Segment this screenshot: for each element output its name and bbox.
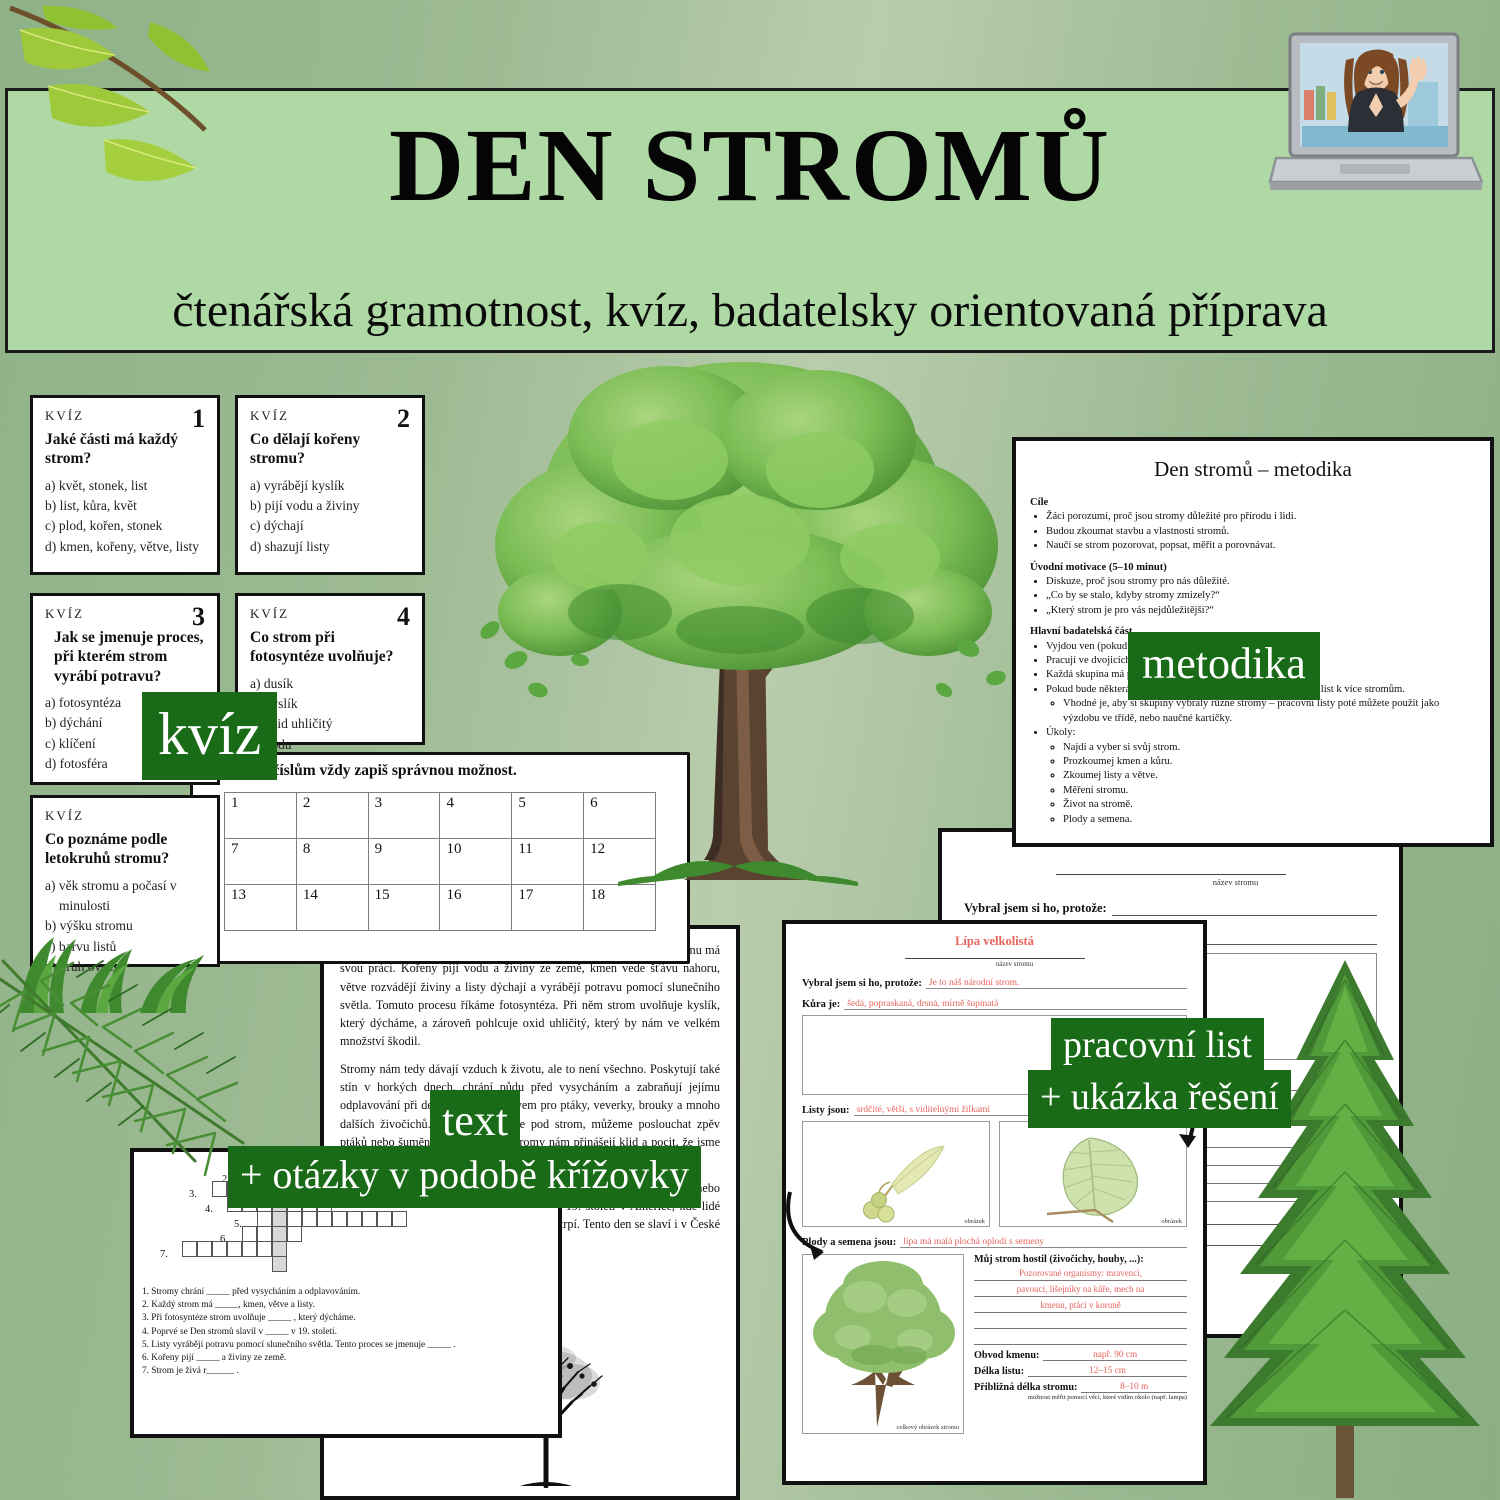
bark-answer[interactable]: šedá, popraskaná, drsná, mírně šupinatá — [844, 999, 1187, 1010]
quiz-card-label: KVÍZ — [45, 606, 205, 622]
grid-cell[interactable]: 10 — [440, 839, 512, 885]
circumference-label: Obvod kmenu: — [974, 1350, 1039, 1361]
quiz-question: Jak se jmenuje proces, při kterém strom … — [45, 628, 205, 686]
crossword-clue: 7. Strom je živá r______ . — [142, 1365, 550, 1378]
crossword-clues: 1. Stromy chrání _____ před vysycháním a… — [142, 1286, 550, 1378]
quiz-option[interactable]: c) plod, kořen, stonek — [45, 516, 205, 536]
list-item: Vhodné je, aby si skupiny vybraly různé … — [1063, 697, 1476, 726]
fruit-row: Plody a semena jsou: lípa má malá plochá… — [802, 1237, 1187, 1248]
tree-name-line — [905, 950, 1085, 959]
leaves-label: Listy jsou: — [802, 1105, 850, 1116]
crossword-cell[interactable] — [317, 1211, 332, 1227]
teacher-avatar-laptop-icon — [1268, 30, 1483, 250]
methodology-list: Žáci porozumí, proč jsou stromy důležité… — [1030, 510, 1476, 553]
image-caption: obrázek — [1161, 1218, 1182, 1225]
quiz-card-number: 2 — [397, 404, 410, 434]
list-item: Zkoumej listy a větve. — [1063, 769, 1476, 783]
crossword-cell[interactable] — [287, 1211, 302, 1227]
why-label: Vybral jsem si ho, protože: — [802, 978, 922, 989]
host-line[interactable]: pavouci, lišejníky na kůře, mech na — [974, 1281, 1187, 1297]
image-caption: obrázek — [964, 1218, 985, 1225]
quiz-option[interactable]: a) vyrábějí kyslík — [250, 476, 410, 496]
methodology-title: Den stromů – metodika — [1030, 457, 1476, 482]
crossword-cell[interactable] — [287, 1226, 302, 1242]
quiz-card-label: KVÍZ — [45, 808, 205, 824]
host-line[interactable]: Pozorované organismy: mravenci, — [974, 1265, 1187, 1281]
crossword-cell[interactable] — [257, 1241, 272, 1257]
tree-name-caption: název stromu — [842, 960, 1187, 968]
leaf-length-label: Délka listu: — [974, 1366, 1024, 1377]
page-subtitle: čtenářská gramotnost, kvíz, badatelsky o… — [8, 283, 1492, 338]
why-answer[interactable]: Je to náš národní strom. — [926, 978, 1187, 989]
tag-ukazka-reseni: + ukázka řešení — [1028, 1070, 1291, 1128]
quiz-question: Co strom při fotosyntéze uvolňuje? — [250, 628, 410, 667]
bark-label: Kůra je: — [802, 999, 840, 1010]
height-value[interactable]: 8–10 m — [1081, 1382, 1187, 1393]
fruit-answer[interactable]: lípa má malá plochá oplodí s semeny — [900, 1237, 1187, 1248]
crossword-cell[interactable] — [227, 1241, 242, 1257]
list-item: „Který strom je pro vás nejdůležitější?“ — [1046, 604, 1476, 618]
tree-name-caption: název stromu — [1094, 877, 1377, 887]
quiz-option[interactable]: d) shazují listy — [250, 537, 410, 557]
quiz-option[interactable]: b) list, kůra, květ — [45, 496, 205, 516]
quiz-card-1[interactable]: KVÍZ 1 Jaké části má každý strom? a) kvě… — [30, 395, 220, 575]
crossword-number: 4. — [205, 1204, 213, 1215]
bark-box-caption: obtisk kůry — [1335, 1048, 1371, 1057]
methodology-heading: Úvodní motivace (5–10 minut) — [1030, 561, 1476, 575]
quiz-option[interactable]: a) dusík — [250, 674, 410, 694]
methodology-heading: Cíle — [1030, 496, 1476, 510]
tag-pracovni-list: pracovní list — [1051, 1018, 1264, 1076]
list-item: „Co by se stalo, kdyby stromy zmizely?“ — [1046, 589, 1476, 603]
crossword-cell-highlight[interactable] — [272, 1211, 287, 1227]
list-item: Budou zkoumat stavbu a vlastnosti stromů… — [1046, 525, 1476, 539]
grid-cell[interactable]: 11 — [512, 839, 584, 885]
crossword-clue: 2. Každý strom má _____, kmen, větve a l… — [142, 1299, 550, 1312]
crossword-cell[interactable] — [302, 1211, 317, 1227]
grid-cell[interactable]: 16 — [440, 885, 512, 931]
host-line[interactable]: kmenu, ptáci v koruně — [974, 1297, 1187, 1313]
crossword-cell[interactable] — [242, 1226, 257, 1242]
crossword-cell[interactable] — [197, 1241, 212, 1257]
measurements-column: Můj strom hostil (živočichy, houby, ...)… — [974, 1254, 1187, 1434]
host-line[interactable] — [974, 1313, 1187, 1329]
list-item: Měření stromu. — [1063, 784, 1476, 798]
why-label: Vybral jsem si ho, protože: — [964, 901, 1107, 916]
bark-row: Kůra je: šedá, popraskaná, drsná, mírně … — [802, 999, 1187, 1010]
quiz-card-number: 4 — [397, 602, 410, 632]
list-item: Naučí se strom pozorovat, popsat, měřit … — [1046, 539, 1476, 553]
quiz-option[interactable]: a) květ, stonek, list — [45, 476, 205, 496]
quiz-card-number: 1 — [192, 404, 205, 434]
crossword-cell[interactable] — [392, 1211, 407, 1227]
tag-kviz: kvíz — [142, 692, 277, 780]
quiz-card-number: 3 — [192, 602, 205, 632]
crossword-clue: 6. Kořeny pijí _____ a živiny ze země. — [142, 1352, 550, 1365]
crossword-number: 3. — [189, 1189, 197, 1200]
quiz-options: a) věk stromu a počasí v minulosti b) vý… — [45, 876, 205, 977]
quiz-question: Co dělají kořeny stromu? — [250, 430, 410, 469]
grid-cell[interactable]: 6 — [584, 793, 656, 839]
crossword-cell[interactable] — [257, 1211, 272, 1227]
list-item: Najdi a vyber si svůj strom. — [1063, 741, 1476, 755]
tag-metodika: metodika — [1128, 632, 1320, 700]
bottom-row: celkový obrázek stromu Můj strom hostil … — [802, 1254, 1187, 1434]
list-item: Prozkoumej kmen a kůru. — [1063, 755, 1476, 769]
crossword-cell[interactable] — [362, 1211, 377, 1227]
quiz-card-stack: KVÍZ 1 Jaké části má každý strom? a) kvě… — [30, 395, 442, 975]
height-row: Přibližná délka stromu: 8–10 m — [974, 1382, 1187, 1393]
quiz-option[interactable]: b) výšku stromu — [45, 916, 205, 936]
quiz-option[interactable]: c) dýchají — [250, 516, 410, 536]
tree-name: Lípa velkolistá — [802, 934, 1187, 949]
quiz-options: a) květ, stonek, list b) list, kůra, kvě… — [45, 476, 205, 557]
host-line[interactable] — [974, 1329, 1187, 1345]
whole-tree-image-cell[interactable]: celkový obrázek stromu — [802, 1254, 964, 1434]
circumference-value[interactable]: např. 90 cm — [1043, 1350, 1187, 1361]
methodology-sublist: Vhodné je, aby si skupiny vybraly různé … — [1046, 697, 1476, 726]
list-item: Diskuze, proč jsou stromy pro nás důleži… — [1046, 575, 1476, 589]
crossword-number: 7. — [160, 1249, 168, 1260]
why-row: Vybral jsem si ho, protože: Je to náš ná… — [802, 978, 1187, 989]
tree-name-line[interactable] — [1056, 860, 1286, 875]
grid-cell[interactable]: 4 — [440, 793, 512, 839]
why-input[interactable] — [1112, 902, 1377, 916]
methodology-list: Diskuze, proč jsou stromy pro nás důleži… — [1030, 575, 1476, 618]
crossword-number: 5. — [234, 1219, 242, 1230]
grid-cell[interactable]: 5 — [512, 793, 584, 839]
quiz-question: Jaké části má každý strom? — [45, 430, 205, 469]
crossword-clue: 4. Poprvé se Den stromů slavil v _____ v… — [142, 1326, 550, 1339]
curved-arrow-left-icon — [782, 1180, 852, 1270]
grid-cell[interactable]: 12 — [584, 839, 656, 885]
leaf-length-value[interactable]: 12–15 cm — [1028, 1366, 1187, 1377]
crossword-clue: 3. Při fotosyntéze strom uvolňuje _____ … — [142, 1312, 550, 1325]
quiz-options: a) vyrábějí kyslík b) pijí vodu a živiny… — [250, 476, 410, 557]
crossword-cell[interactable] — [212, 1241, 227, 1257]
grid-cell[interactable]: 18 — [584, 885, 656, 931]
crossword-cell[interactable] — [377, 1211, 392, 1227]
quiz-option[interactable]: d) kmen, kořeny, větve, listy — [45, 537, 205, 557]
crossword-cell[interactable] — [332, 1211, 347, 1227]
crossword-cell-highlight[interactable] — [272, 1256, 287, 1272]
list-item: Žáci porozumí, proč jsou stromy důležité… — [1046, 510, 1476, 524]
list-item: Úkoly: — [1046, 726, 1476, 740]
list-item: Život na stromě. — [1063, 798, 1476, 812]
crossword-cell[interactable] — [242, 1241, 257, 1257]
birch-branch-icon — [0, 0, 270, 230]
tag-krizovka: + otázky v podobě křížovky — [228, 1146, 701, 1208]
leaf-length-row: Délka listu: 12–15 cm — [974, 1366, 1187, 1377]
quiz-card-label: KVÍZ — [250, 408, 410, 424]
quiz-question: Co poznáme podle letokruhů stromu? — [45, 830, 205, 869]
quiz-card-2[interactable]: KVÍZ 2 Co dělají kořeny stromu? a) vyráb… — [235, 395, 425, 575]
crossword-cell[interactable] — [212, 1181, 227, 1197]
leaf-image-row: obrázek obrázek — [802, 1121, 1187, 1227]
grid-cell[interactable]: 17 — [512, 885, 584, 931]
quiz-card-label: KVÍZ — [250, 606, 410, 622]
quiz-card-label: KVÍZ — [45, 408, 205, 424]
crossword-cell[interactable] — [347, 1211, 362, 1227]
quiz-card-5[interactable]: KVÍZ Co poznáme podle letokruhů stromu? … — [30, 795, 220, 967]
host-label: Můj strom hostil (živočichy, houby, ...)… — [974, 1254, 1187, 1265]
quiz-option[interactable]: b) pijí vodu a živiny — [250, 496, 410, 516]
methodology-tasks: Najdi a vyber si svůj strom. Prozkoumej … — [1046, 741, 1476, 827]
list-item: Plody a semena. — [1063, 813, 1476, 827]
crossword-clue: 1. Stromy chrání _____ před vysycháním a… — [142, 1286, 550, 1299]
crossword-cell[interactable] — [182, 1241, 197, 1257]
circumference-row: Obvod kmenu: např. 90 cm — [974, 1350, 1187, 1361]
linden-tree-icon — [803, 1255, 963, 1433]
quiz-option[interactable]: d) druh ovoce — [45, 957, 205, 977]
quiz-option[interactable]: c) barvu listů — [45, 937, 205, 957]
quiz-option[interactable]: a) věk stromu a počasí v — [45, 876, 205, 896]
height-label: Přibližná délka stromu: — [974, 1382, 1077, 1393]
why-row: Vybral jsem si ho, protože: — [964, 901, 1377, 916]
height-note: možnost měřit pomocí věcí, které vidím o… — [974, 1394, 1187, 1402]
crossword-cell-highlight[interactable] — [272, 1241, 287, 1257]
crossword-clue: 5. Listy vyrábějí potravu pomocí slunečn… — [142, 1339, 550, 1352]
crossword-cell-highlight[interactable] — [272, 1226, 287, 1242]
whole-tree-caption: celkový obrázek stromu — [897, 1424, 959, 1431]
quiz-option-cont: minulosti — [45, 896, 205, 916]
crossword-cell[interactable] — [257, 1226, 272, 1242]
